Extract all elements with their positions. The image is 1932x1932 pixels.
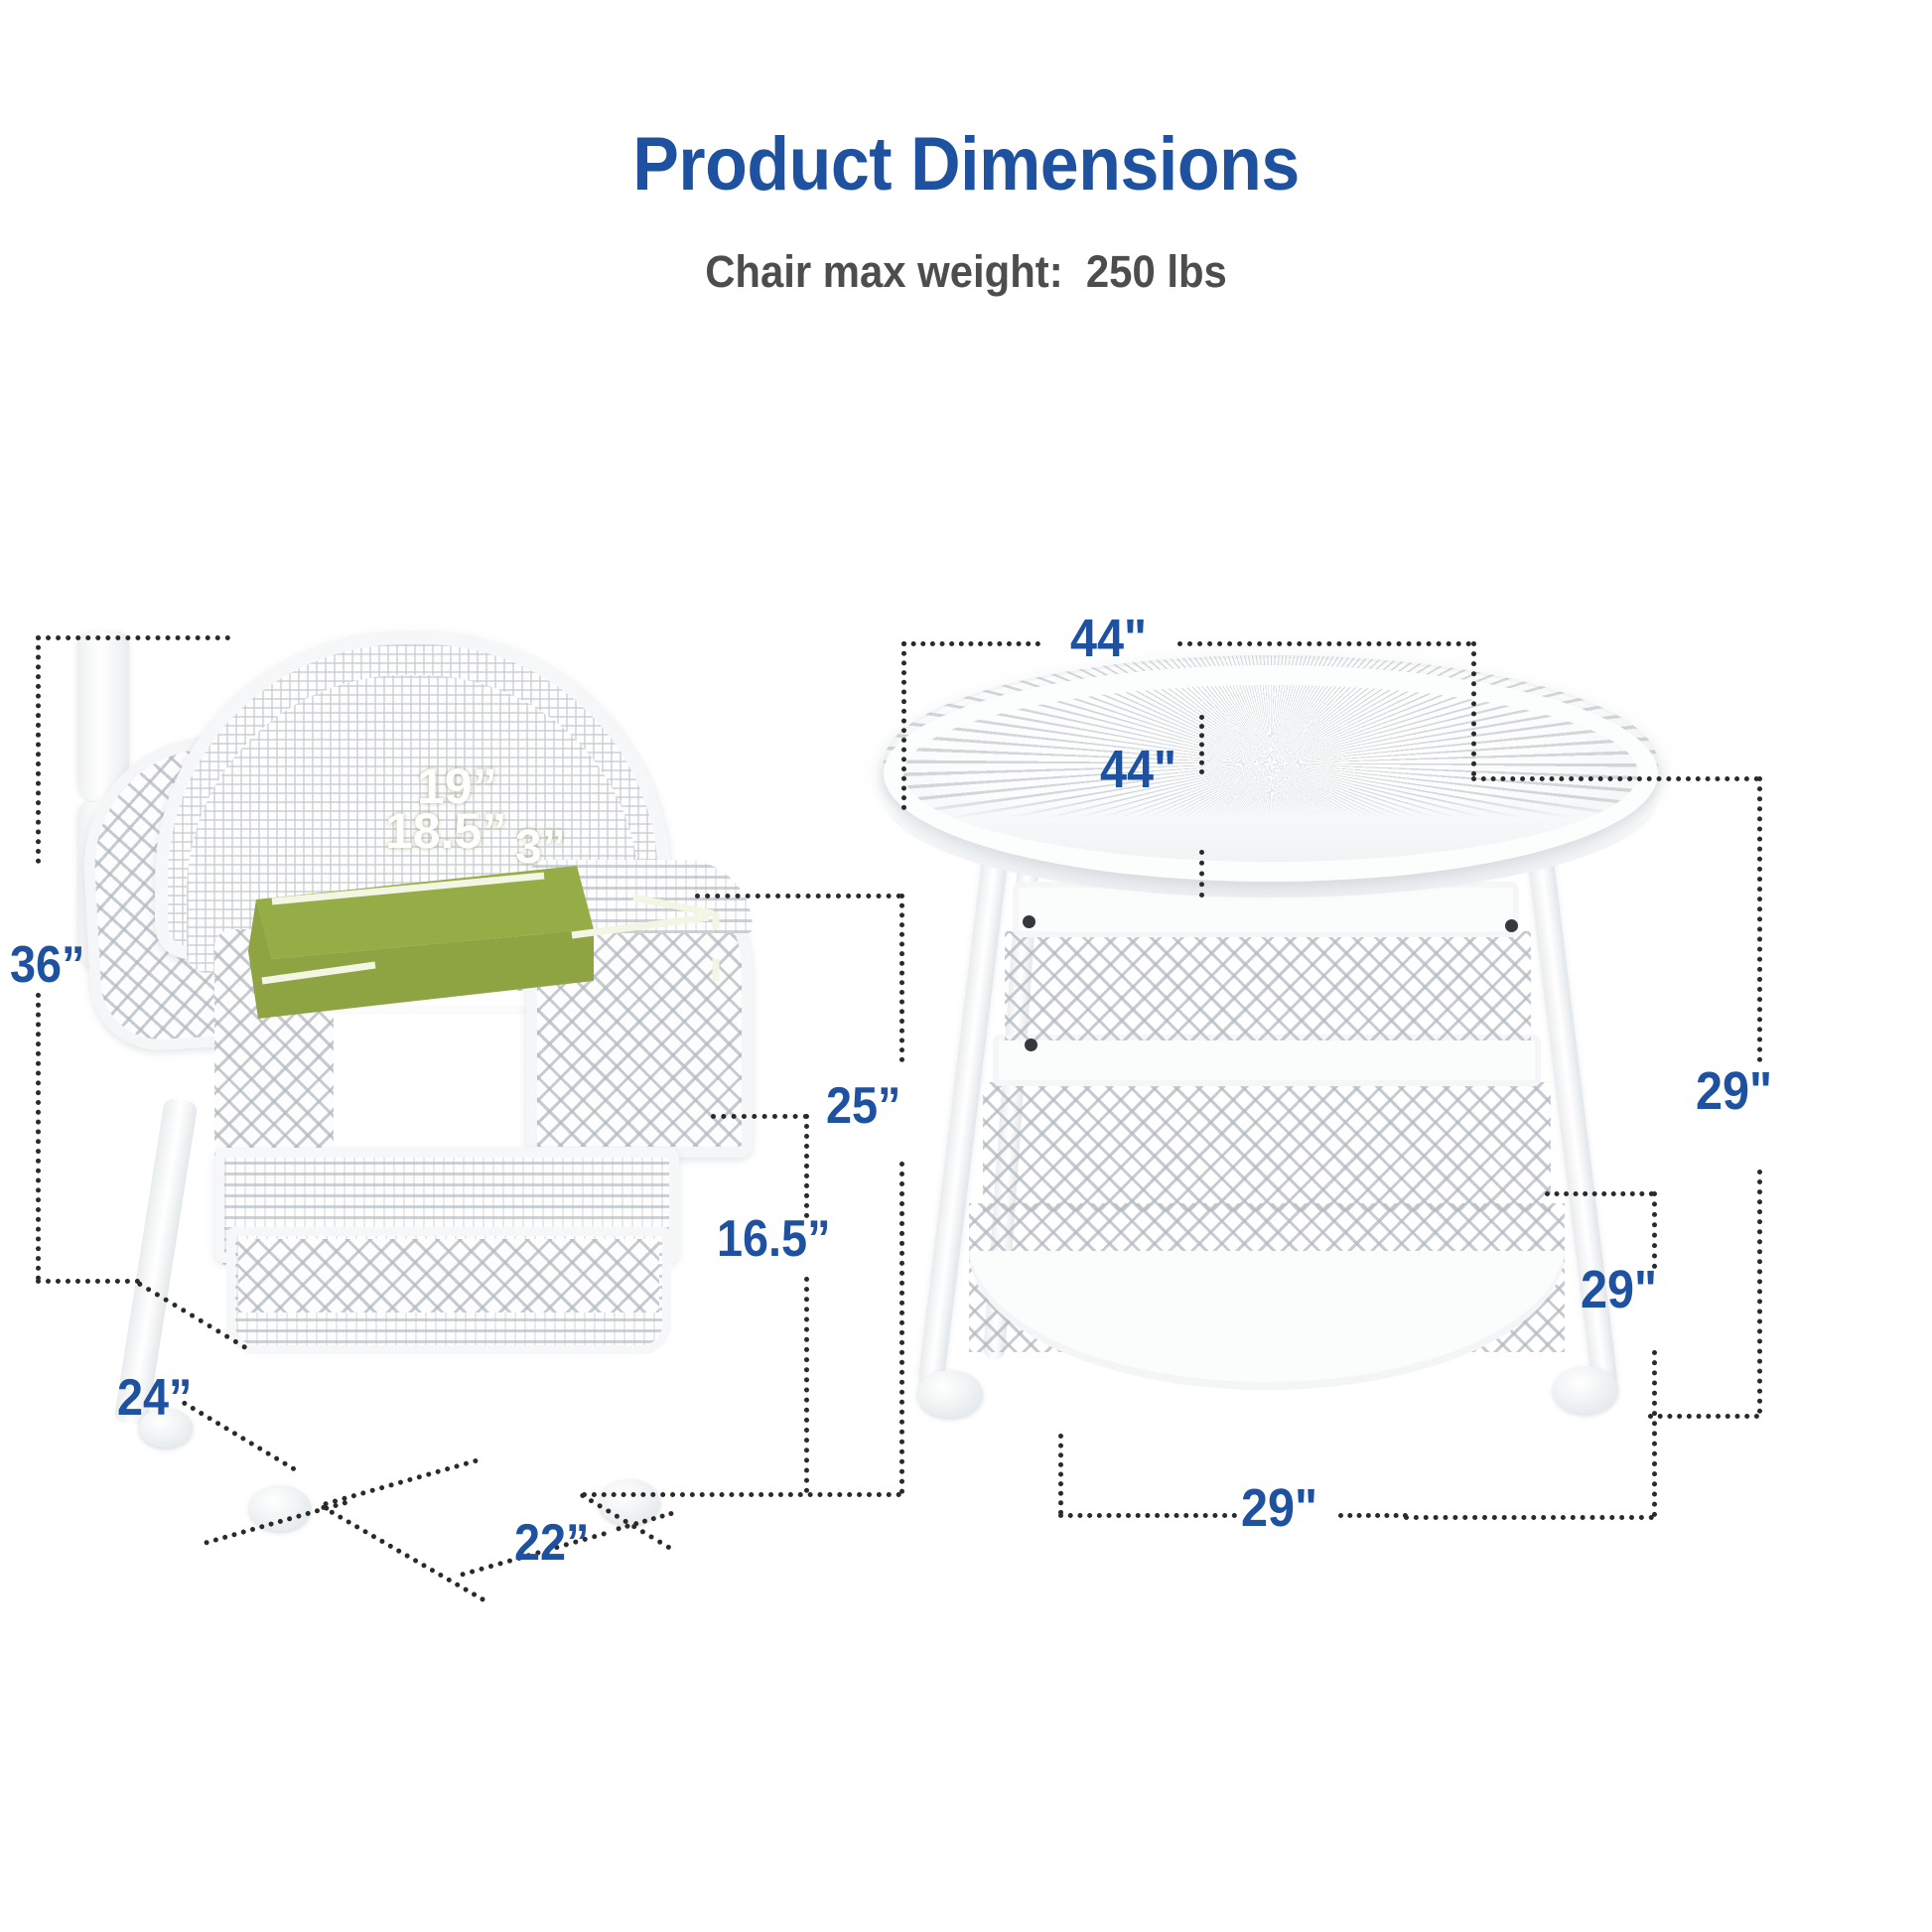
- table-leader-29-right-lower: [1757, 1170, 1762, 1414]
- cushion-19-line: [272, 876, 544, 901]
- chair-leader-bottom-left: [36, 1279, 140, 1284]
- chair-leader-top: [36, 635, 230, 640]
- table-base-bottom-band: [969, 1251, 1565, 1390]
- table-leader-29-right-bottom: [1648, 1414, 1759, 1419]
- chair-dimension-24: 24”: [117, 1372, 192, 1424]
- table-leader-29-bottom-left: [1058, 1513, 1237, 1518]
- table-leader-29-bottom-left-rise: [1058, 1434, 1063, 1515]
- chair-leader-left-lower: [36, 993, 41, 1281]
- chair-leader-165-lower: [804, 1277, 809, 1493]
- table-leader-29-lower-upper: [1652, 1191, 1657, 1269]
- chair-leader-25-top-tick: [695, 894, 901, 898]
- table-leader-29-lower-lower: [1652, 1350, 1657, 1517]
- cushion-dimension-3: 3”: [515, 824, 566, 872]
- table-screw-right: [1505, 919, 1518, 932]
- table-foot-right: [1553, 1366, 1618, 1414]
- table-base-upper-mesh: [1005, 931, 1531, 1040]
- table-foot-left: [917, 1370, 983, 1418]
- table-rim-weave-texture: [886, 667, 1656, 880]
- product-dimensions-diagram: Product Dimensions Chair max weight: 250…: [0, 0, 1932, 1932]
- chair-leader-165-top-tick: [711, 1114, 808, 1119]
- chair-leader-165-upper: [804, 1114, 809, 1218]
- page-title: Product Dimensions: [77, 121, 1855, 207]
- cushion-185-line-b: [572, 917, 709, 935]
- table-base-middle-mesh: [983, 1082, 1551, 1211]
- table-leader-44-mid-lower: [1199, 850, 1204, 897]
- table-leader-29-right-upper: [1757, 776, 1762, 1062]
- table-screw-left: [1023, 915, 1035, 928]
- chair-dimension-36: 36”: [10, 939, 84, 991]
- table-dimension-29-base-width: 29": [1241, 1481, 1317, 1535]
- table-dimension-44-top: 44": [1070, 612, 1147, 665]
- table-dimension-44-depth: 44": [1100, 743, 1176, 796]
- table-leader-44-top-right: [1177, 641, 1471, 646]
- table-leader-44-left-drop: [901, 641, 906, 810]
- table-leader-44-right-drop: [1471, 641, 1476, 776]
- chair-base-leader-22-left: [321, 1504, 486, 1602]
- cushion-dimension-18-5: 18.5”: [385, 806, 506, 856]
- table-leader-29-bottom-right: [1338, 1513, 1408, 1518]
- chair-leader-25-bottom-tick: [582, 1492, 901, 1497]
- chair-leader-left-upper: [36, 635, 41, 864]
- chair-dimension-16-5: 16.5”: [717, 1213, 830, 1265]
- table-leader-29-right-top: [1471, 776, 1759, 781]
- table-leader-29-lower-top: [1545, 1191, 1654, 1196]
- table-screw-lower: [1025, 1038, 1037, 1051]
- table-leader-29-lower-bottom: [1404, 1515, 1654, 1520]
- table-dimension-29-base-height: 29": [1581, 1263, 1657, 1316]
- chair-dimension-22: 22”: [514, 1517, 589, 1569]
- table-base-middle-rail: [993, 1035, 1541, 1086]
- chair-max-weight-note: Chair max weight: 250 lbs: [68, 246, 1864, 298]
- table-leader-44-top-left: [901, 641, 1040, 646]
- cushion-185-line: [262, 965, 375, 981]
- table-dimension-29-height: 29": [1696, 1064, 1772, 1118]
- cushion-19-line-b: [633, 897, 713, 913]
- table-leader-44-mid-upper: [1199, 715, 1204, 774]
